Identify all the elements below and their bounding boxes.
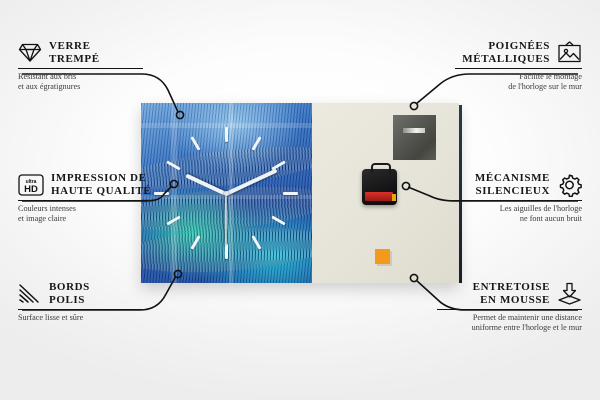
callout-subtitle-line1: Permet de maintenir une distance xyxy=(437,313,582,323)
picture-frame-hanger-icon xyxy=(557,41,582,64)
battery-terminal xyxy=(392,194,396,201)
callout-header: VERRE TREMPÉ xyxy=(18,40,143,65)
clock-tick-12 xyxy=(225,127,228,142)
foam-spacer-arrow-icon xyxy=(557,282,582,306)
callout-title: BORDS POLIS xyxy=(49,281,90,306)
callout-divider xyxy=(18,68,143,69)
callout-title: VERRE TREMPÉ xyxy=(49,40,100,65)
callout-poignees-metalliques[interactable]: POIGNÉES MÉTALLIQUES Facilite le montage… xyxy=(455,40,582,92)
callout-subtitle-line2: ne font aucun bruit xyxy=(452,214,582,224)
callout-subtitle-line2: et aux égratignures xyxy=(18,82,143,92)
callout-divider xyxy=(18,200,148,201)
callout-subtitle-line2: de l'horloge sur le mur xyxy=(455,82,582,92)
ultra-hd-icon: ultra HD xyxy=(18,174,44,196)
clock-tick-11 xyxy=(190,136,200,150)
diamond-icon xyxy=(18,42,42,63)
callout-verre-trempe[interactable]: VERRE TREMPÉ Résistant aux bris et aux é… xyxy=(18,40,143,92)
foam-spacer xyxy=(375,249,390,264)
polished-edge-icon xyxy=(18,283,42,304)
callout-title: ENTRETOISE EN MOUSSE xyxy=(473,281,550,306)
callout-subtitle-line1: Facilite le montage xyxy=(455,72,582,82)
svg-text:HD: HD xyxy=(24,184,38,195)
callout-title: POIGNÉES MÉTALLIQUES xyxy=(462,40,550,65)
callout-header: ENTRETOISE EN MOUSSE xyxy=(437,281,582,306)
clock-tick-3 xyxy=(283,192,298,195)
clock-back-panel xyxy=(312,103,459,283)
callout-subtitle-line1: Les aiguilles de l'horloge xyxy=(452,204,582,214)
callout-subtitle-line1: Surface lisse et sûre xyxy=(18,313,143,323)
infographic-canvas: VERRE TREMPÉ Résistant aux bris et aux é… xyxy=(0,0,600,400)
callout-header: ultra HD IMPRESSION DE HAUTE QUALITÉ xyxy=(18,172,148,197)
battery xyxy=(365,192,393,201)
clock-second-hand xyxy=(225,194,227,246)
callout-divider xyxy=(455,68,582,69)
callout-mecanisme-silencieux[interactable]: MÉCANISME SILENCIEUX Les aiguilles de l'… xyxy=(452,172,582,224)
gear-icon xyxy=(557,173,582,197)
callout-header: POIGNÉES MÉTALLIQUES xyxy=(455,40,582,65)
callout-entretoise-en-mousse[interactable]: ENTRETOISE EN MOUSSE Permet de maintenir… xyxy=(437,281,582,333)
callout-subtitle-line2: uniforme entre l'horloge et le mur xyxy=(437,323,582,333)
callout-divider xyxy=(18,309,143,310)
clock-tick-6 xyxy=(225,244,228,259)
clock-tick-9 xyxy=(154,192,169,195)
callout-header: BORDS POLIS xyxy=(18,281,143,306)
callout-title: MÉCANISME SILENCIEUX xyxy=(475,172,550,197)
callout-subtitle-line2: et image claire xyxy=(18,214,148,224)
callout-subtitle-line1: Couleurs intenses xyxy=(18,204,148,214)
movement-hanging-tab xyxy=(371,163,391,173)
clock-movement-mechanism xyxy=(362,169,397,205)
callout-divider xyxy=(452,200,582,201)
callout-subtitle-line1: Résistant aux bris xyxy=(18,72,143,82)
product-image xyxy=(141,103,459,283)
callout-header: MÉCANISME SILENCIEUX xyxy=(452,172,582,197)
callout-divider xyxy=(437,309,582,310)
glass-reflection-v1 xyxy=(171,103,177,283)
metal-hanger-plate xyxy=(393,115,436,160)
hanger-slot xyxy=(403,128,425,133)
callout-title: IMPRESSION DE HAUTE QUALITÉ xyxy=(51,172,151,197)
clock-center-hub xyxy=(224,191,229,196)
callout-impression-haute-qualite[interactable]: ultra HD IMPRESSION DE HAUTE QUALITÉ Cou… xyxy=(18,172,148,224)
callout-bords-polis[interactable]: BORDS POLIS Surface lisse et sûre xyxy=(18,281,143,323)
clock-front-face xyxy=(141,103,312,283)
